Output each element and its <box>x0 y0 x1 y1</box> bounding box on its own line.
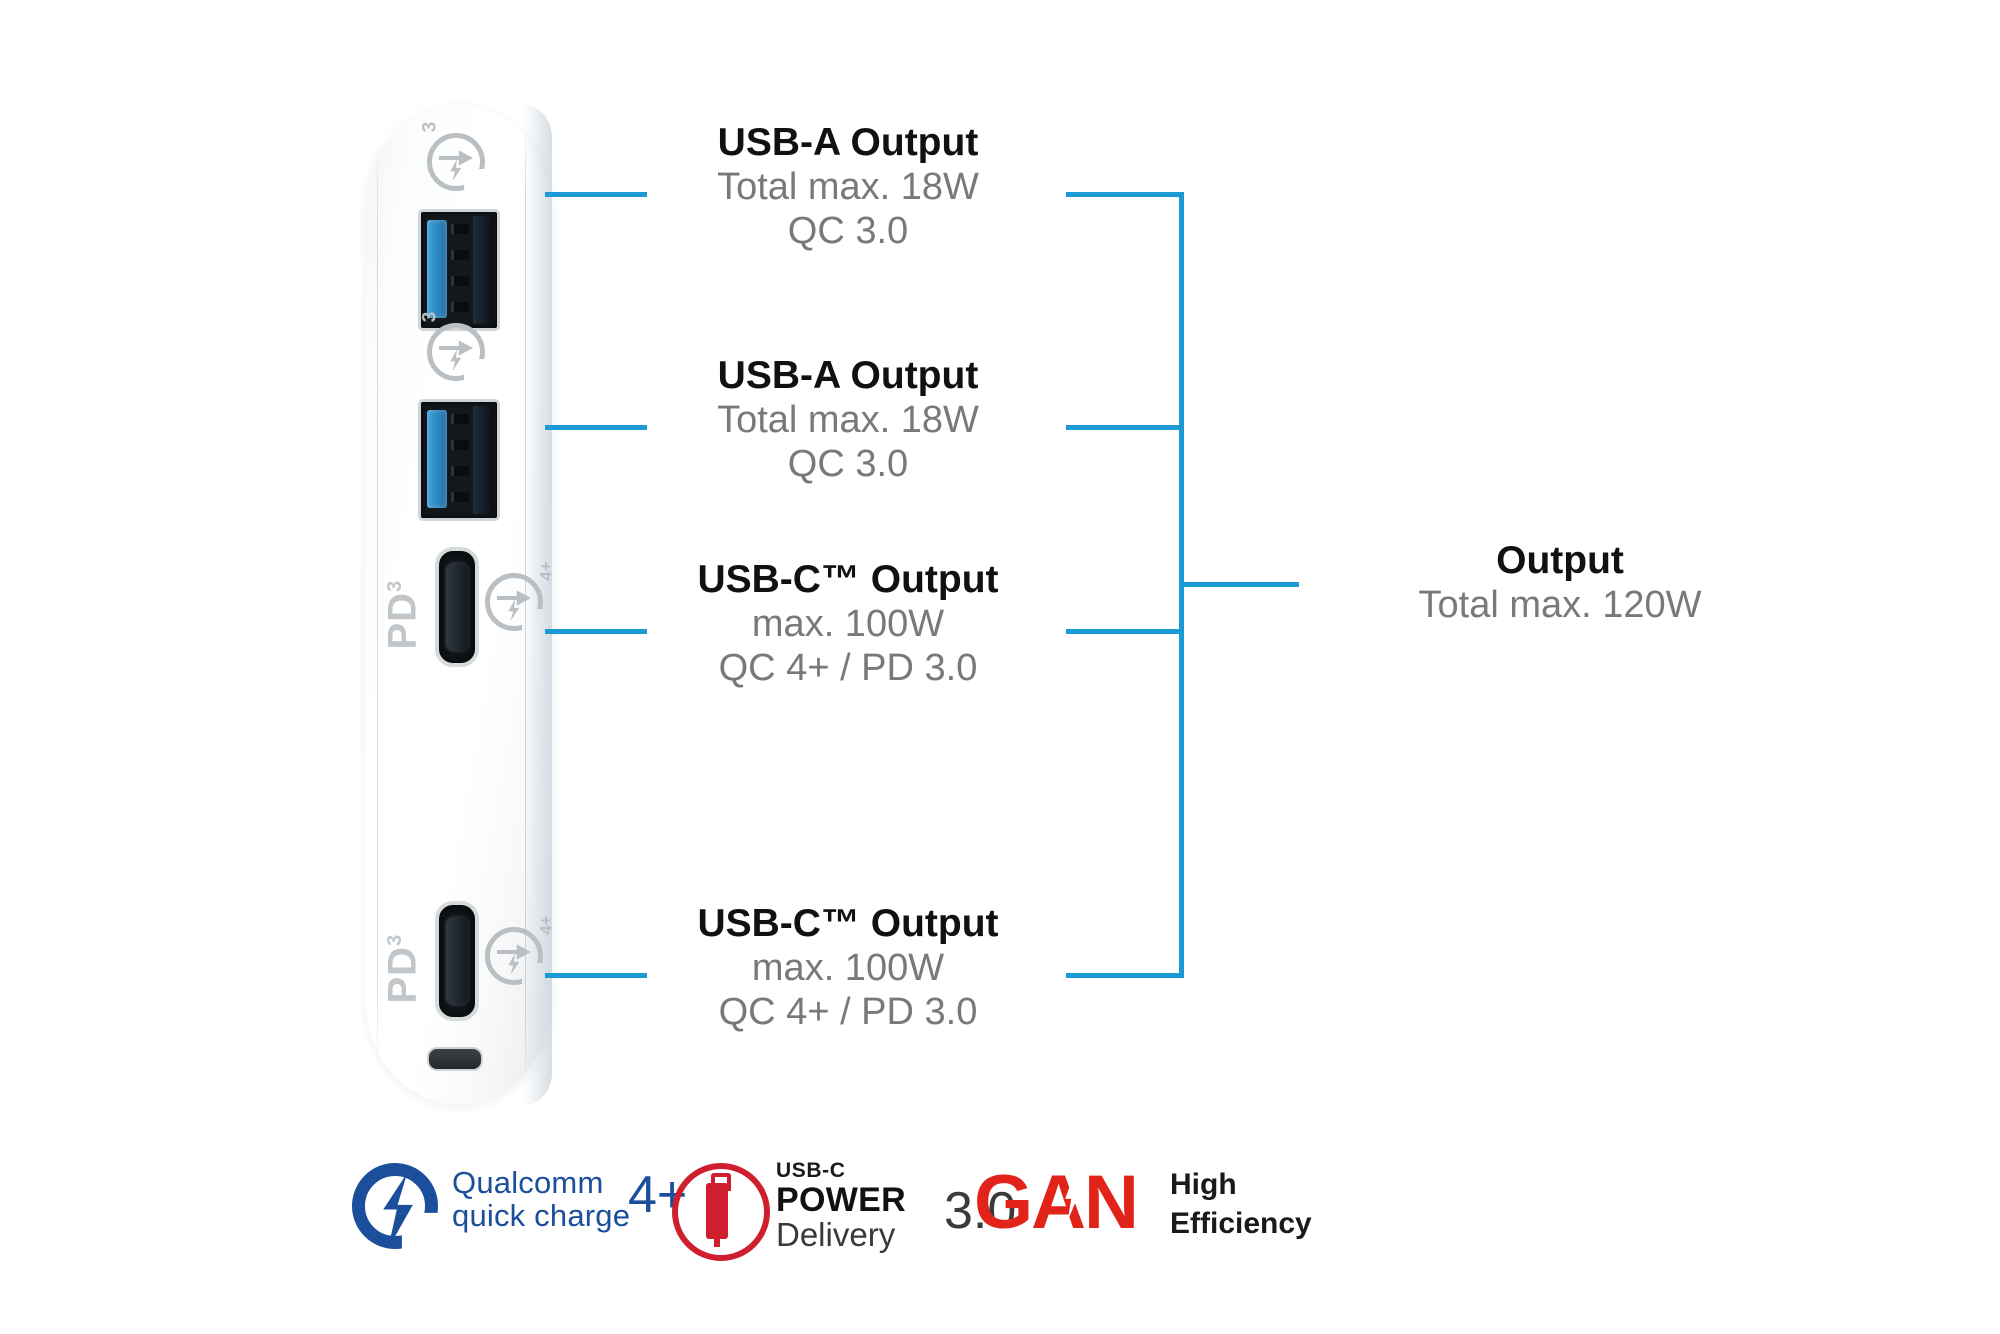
pd-text-usb-c-1: PD <box>381 592 425 650</box>
callout-usb-a-1-title: USB-A Output <box>648 120 1048 165</box>
qc4-superscript-usb-c-1: 4+ <box>537 561 557 580</box>
device-left-edge <box>377 131 378 1079</box>
quick-charge-4plus-icon-usb-c-2: 4+ <box>485 927 543 985</box>
usb-c-port-1 <box>435 547 479 667</box>
usb-a-2-inner <box>473 406 493 514</box>
bracket-arm-usb-a-1 <box>1066 192 1184 197</box>
callout-usb-c-1-line3: QC 4+ / PD 3.0 <box>648 646 1048 690</box>
usb-a-1-blue-tongue <box>427 220 447 318</box>
qc-superscript-port1: 3 <box>419 122 441 133</box>
power-delivery-circle-icon <box>672 1163 770 1261</box>
quick-charge-3-icon-port1: 3 <box>427 133 485 191</box>
callout-usb-c-1-title: USB-C™ Output <box>648 557 1048 602</box>
qc-superscript-port2: 3 <box>419 312 441 323</box>
callout-usb-a-2-line3: QC 3.0 <box>648 442 1048 486</box>
lead-line-usb-a-1 <box>545 192 647 197</box>
diagram-canvas: 3 3 PD3 4+ <box>0 0 2000 1334</box>
power-delivery-wordmark: USB-C POWER Delivery <box>776 1159 906 1251</box>
callout-usb-c-2: USB-C™ Output max. 100W QC 4+ / PD 3.0 <box>648 901 1048 1034</box>
callout-usb-a-1-line3: QC 3.0 <box>648 209 1048 253</box>
qualcomm-quick-charge-badge: Qualcomm quick charge 4+ <box>352 1155 652 1275</box>
usb-c-power-delivery-badge: USB-C POWER Delivery 3.0 <box>672 1155 962 1275</box>
bracket-output-stub <box>1179 582 1299 587</box>
callout-usb-a-2-line2: Total max. 18W <box>648 398 1048 442</box>
callout-usb-c-2-line2: max. 100W <box>648 946 1048 990</box>
pd-label-usb-c-1: PD3 <box>381 558 426 650</box>
summary-output: Output Total max. 120W <box>1330 538 1790 627</box>
callout-usb-c-2-title: USB-C™ Output <box>648 901 1048 946</box>
power-delivery-line1: POWER <box>776 1183 906 1218</box>
quick-charge-3-icon-port2: 3 <box>427 323 485 381</box>
bracket-arm-usb-a-2 <box>1066 425 1184 430</box>
qualcomm-bolt-icon <box>352 1163 438 1249</box>
callout-usb-c-2-line3: QC 4+ / PD 3.0 <box>648 990 1048 1034</box>
usb-a-1-pins <box>451 224 469 316</box>
lead-line-usb-c-1 <box>545 629 647 634</box>
callout-usb-a-2-title: USB-A Output <box>648 353 1048 398</box>
gan-high-efficiency-badge: GAN High Efficiency <box>974 1155 1274 1275</box>
input-port <box>427 1047 483 1071</box>
pd-text-usb-c-2: PD <box>381 946 425 1004</box>
quick-charge-4plus-icon-usb-c-1: 4+ <box>485 573 543 631</box>
pd-sup-usb-c-2: 3 <box>384 934 406 946</box>
usb-a-port-2 <box>418 399 500 521</box>
summary-output-line2: Total max. 120W <box>1330 583 1790 627</box>
qualcomm-line2: quick charge <box>452 1200 630 1233</box>
bracket-arm-usb-c-1 <box>1066 629 1184 634</box>
charger-device: 3 3 PD3 4+ <box>365 105 552 1105</box>
callout-usb-c-1-line2: max. 100W <box>648 602 1048 646</box>
power-delivery-plug-body <box>706 1183 728 1239</box>
callout-usb-a-1-line2: Total max. 18W <box>648 165 1048 209</box>
gan-wordmark: GAN <box>974 1159 1137 1246</box>
qualcomm-wordmark: Qualcomm quick charge <box>452 1167 630 1232</box>
gan-tagline: High Efficiency <box>1170 1165 1312 1243</box>
power-delivery-line2: Delivery <box>776 1218 906 1252</box>
qualcomm-line1: Qualcomm <box>452 1167 630 1200</box>
gan-tagline-line2: Efficiency <box>1170 1204 1312 1243</box>
callout-usb-a-2: USB-A Output Total max. 18W QC 3.0 <box>648 353 1048 486</box>
usb-a-2-pins <box>451 414 469 506</box>
usb-c-2-bar <box>446 917 468 1005</box>
gan-tagline-line1: High <box>1170 1165 1312 1204</box>
lead-line-usb-a-2 <box>545 425 647 430</box>
bracket-arm-usb-c-2 <box>1066 973 1184 978</box>
summary-output-title: Output <box>1330 538 1790 583</box>
power-delivery-plug-cable <box>714 1235 720 1247</box>
power-delivery-eyebrow: USB-C <box>776 1159 906 1183</box>
callout-usb-a-1: USB-A Output Total max. 18W QC 3.0 <box>648 120 1048 253</box>
qc4-superscript-usb-c-2: 4+ <box>537 915 557 934</box>
usb-c-port-2 <box>435 901 479 1021</box>
usb-a-1-inner <box>473 216 493 324</box>
usb-a-2-blue-tongue <box>427 410 447 508</box>
pd-label-usb-c-2: PD3 <box>381 912 426 1004</box>
pd-sup-usb-c-1: 3 <box>384 580 406 592</box>
callout-usb-c-1: USB-C™ Output max. 100W QC 4+ / PD 3.0 <box>648 557 1048 690</box>
lead-line-usb-c-2 <box>545 973 647 978</box>
usb-c-1-bar <box>446 563 468 651</box>
